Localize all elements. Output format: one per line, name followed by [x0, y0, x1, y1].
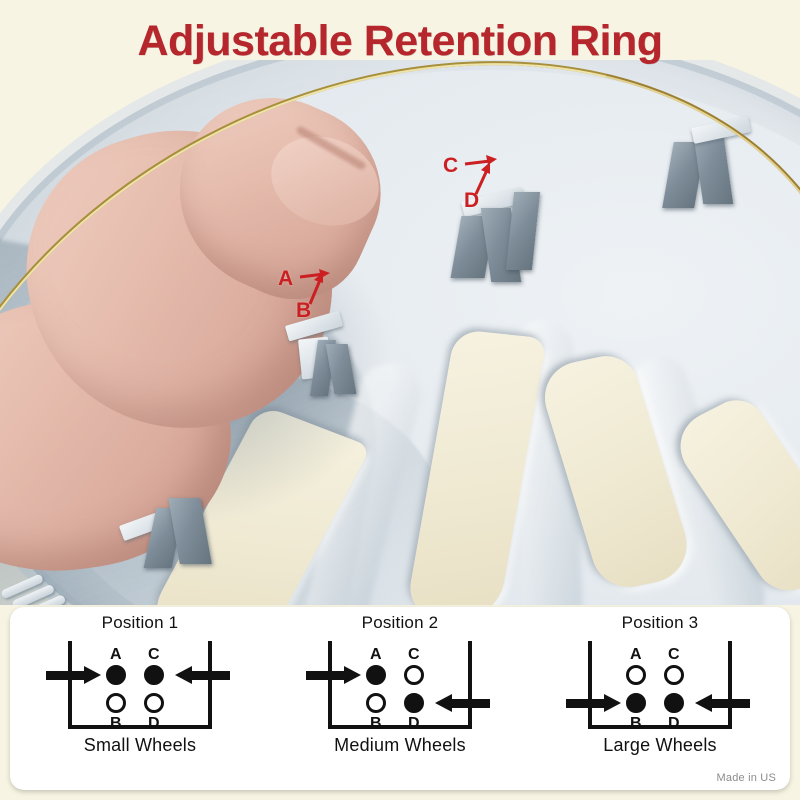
hole-label-b: B: [370, 716, 382, 732]
hole-label-a: A: [630, 647, 642, 663]
bracket-outline: [68, 641, 212, 729]
right-arrow: [690, 694, 750, 712]
made-in-label: Made in US: [717, 772, 776, 784]
page-title: Adjustable Retention Ring: [138, 20, 663, 63]
hole-b[interactable]: [366, 693, 386, 713]
position-caption: Medium Wheels: [334, 735, 466, 756]
position-diagram-row: Position 1 A C B D Small Wheels Position…: [10, 607, 790, 790]
position-bracket-3: A C B D: [560, 637, 760, 733]
callout-label-c: C: [443, 155, 458, 176]
right-arrow: [170, 666, 230, 684]
position-caption: Large Wheels: [603, 735, 716, 756]
photo-inner: A B C D: [0, 60, 800, 605]
bracket-outline: [588, 641, 732, 729]
callout-arrow-d: [470, 158, 498, 198]
hole-a[interactable]: [626, 665, 646, 685]
clip-blade: [326, 344, 357, 394]
hole-label-c: C: [408, 647, 420, 663]
position-title: Position 2: [362, 613, 439, 633]
left-arrow: [566, 694, 626, 712]
hole-a[interactable]: [106, 665, 126, 685]
hole-c[interactable]: [664, 665, 684, 685]
hole-c[interactable]: [404, 665, 424, 685]
left-arrow: [306, 666, 366, 684]
callout-label-a: A: [278, 268, 293, 289]
position-caption: Small Wheels: [84, 735, 196, 756]
clip-tab: [285, 311, 343, 342]
hole-label-a: A: [370, 647, 382, 663]
bracket-outline: [328, 641, 472, 729]
hole-b[interactable]: [626, 693, 646, 713]
position-bracket-1: A C B D: [40, 637, 240, 733]
hole-label-d: D: [148, 716, 160, 732]
hole-d[interactable]: [664, 693, 684, 713]
hole-label-b: B: [630, 716, 642, 732]
hole-label-d: D: [668, 716, 680, 732]
callout-arrow-b: [304, 268, 330, 308]
position-title: Position 3: [622, 613, 699, 633]
hole-d[interactable]: [404, 693, 424, 713]
hole-b[interactable]: [106, 693, 126, 713]
position-cell-2: Position 2 A C B D Medium Wheels: [277, 607, 523, 790]
hole-label-d: D: [408, 716, 420, 732]
position-diagram-panel: Position 1 A C B D Small Wheels Position…: [10, 607, 790, 790]
hole-c[interactable]: [144, 665, 164, 685]
position-bracket-2: A C B D: [300, 637, 500, 733]
position-cell-1: Position 1 A C B D Small Wheels: [17, 607, 263, 790]
hole-label-c: C: [148, 647, 160, 663]
left-arrow: [46, 666, 106, 684]
hole-a[interactable]: [366, 665, 386, 685]
hole-d[interactable]: [144, 693, 164, 713]
position-cell-3: Position 3 A C B D Large Wheels: [537, 607, 783, 790]
retention-clip-upper-right: [668, 122, 778, 222]
hole-label-c: C: [668, 647, 680, 663]
hole-label-a: A: [110, 647, 122, 663]
clip-blade: [168, 498, 212, 564]
retention-clip-lower-left: [120, 492, 230, 592]
position-title: Position 1: [102, 613, 179, 633]
hole-label-b: B: [110, 716, 122, 732]
right-arrow: [430, 694, 490, 712]
product-photo: A B C D: [0, 60, 800, 605]
title-bar: Adjustable Retention Ring: [0, 0, 800, 82]
